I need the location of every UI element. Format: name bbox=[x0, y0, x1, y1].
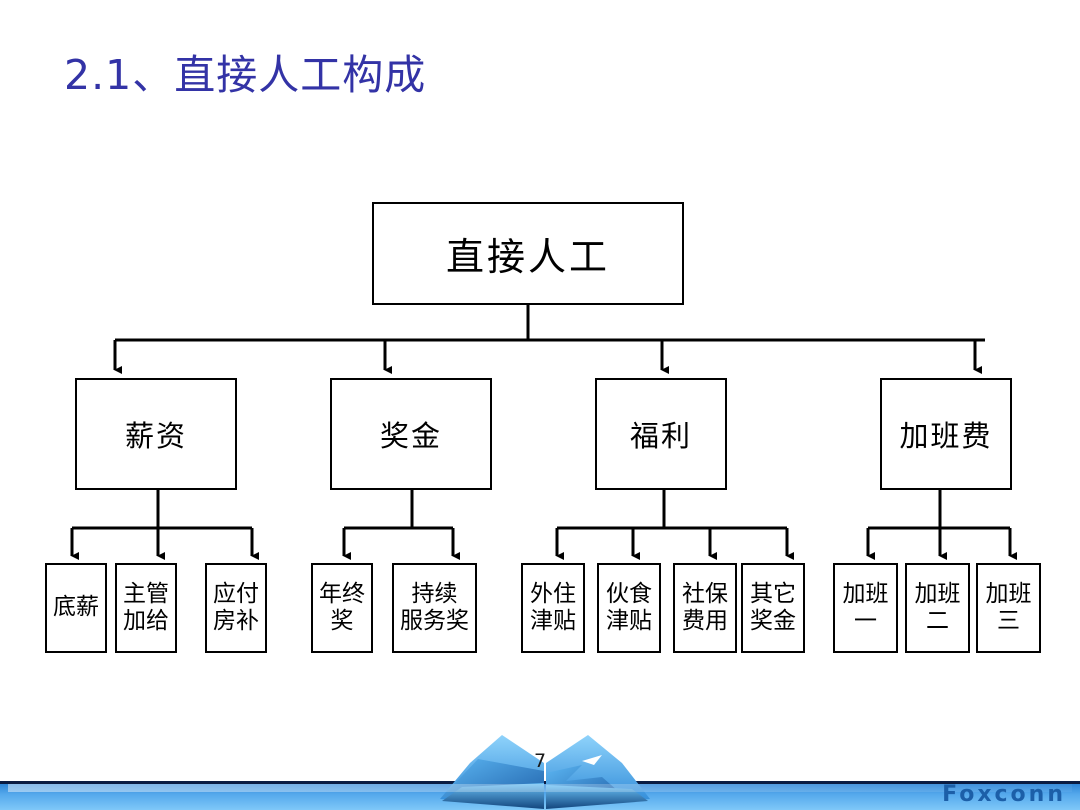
node-supervisor-allowance-label: 主管 加给 bbox=[123, 581, 169, 635]
connector-welfare-group bbox=[557, 490, 787, 556]
node-housing-subsidy-label: 应付 房补 bbox=[213, 581, 259, 635]
node-overtime-2[interactable]: 加班 二 bbox=[905, 563, 970, 653]
node-salary-label: 薪资 bbox=[125, 413, 187, 455]
node-overtime-3-label: 加班 三 bbox=[986, 581, 1032, 635]
page-title: 2.1、直接人工构成 bbox=[64, 52, 426, 99]
node-meal-allowance-label: 伙食 津贴 bbox=[606, 581, 652, 635]
node-housing-allowance[interactable]: 外住 津贴 bbox=[521, 563, 585, 653]
node-root[interactable]: 直接人工 bbox=[372, 202, 684, 305]
footer-bar-highlight bbox=[8, 784, 1072, 792]
node-salary[interactable]: 薪资 bbox=[75, 378, 237, 490]
node-other-bonus-label: 其它 奖金 bbox=[750, 581, 796, 635]
node-social-insurance[interactable]: 社保 费用 bbox=[673, 563, 737, 653]
node-other-bonus[interactable]: 其它 奖金 bbox=[741, 563, 805, 653]
node-welfare-label: 福利 bbox=[630, 413, 692, 455]
node-overtime-1-label: 加班 一 bbox=[843, 581, 889, 635]
slide-canvas: 2.1、直接人工构成 bbox=[0, 0, 1080, 810]
brand-logo: Foxconn bbox=[942, 782, 1066, 807]
node-root-label: 直接人工 bbox=[446, 226, 610, 281]
connector-root-to-bus bbox=[115, 305, 985, 340]
node-meal-allowance[interactable]: 伙食 津贴 bbox=[597, 563, 661, 653]
node-overtime-2-label: 加班 二 bbox=[915, 581, 961, 635]
page-number: 7 bbox=[0, 750, 1080, 772]
node-year-end-bonus-label: 年终 奖 bbox=[319, 581, 365, 635]
node-long-service-bonus[interactable]: 持续 服务奖 bbox=[392, 563, 477, 653]
node-social-insurance-label: 社保 费用 bbox=[682, 581, 728, 635]
node-overtime-label: 加班费 bbox=[899, 413, 992, 455]
node-base-salary[interactable]: 底薪 bbox=[45, 563, 107, 653]
node-year-end-bonus[interactable]: 年终 奖 bbox=[311, 563, 373, 653]
connector-overtime-group bbox=[868, 490, 1010, 556]
node-supervisor-allowance[interactable]: 主管 加给 bbox=[115, 563, 177, 653]
node-bonus[interactable]: 奖金 bbox=[330, 378, 492, 490]
node-bonus-label: 奖金 bbox=[380, 413, 442, 455]
node-welfare[interactable]: 福利 bbox=[595, 378, 727, 490]
node-housing-subsidy[interactable]: 应付 房补 bbox=[205, 563, 267, 653]
node-overtime[interactable]: 加班费 bbox=[880, 378, 1012, 490]
node-base-salary-label: 底薪 bbox=[53, 594, 99, 621]
node-overtime-1[interactable]: 加班 一 bbox=[833, 563, 898, 653]
connector-bus-to-level2 bbox=[115, 340, 975, 370]
node-housing-allowance-label: 外住 津贴 bbox=[530, 581, 576, 635]
connector-bonus-group bbox=[344, 490, 453, 556]
node-long-service-bonus-label: 持续 服务奖 bbox=[400, 581, 469, 635]
connector-salary-group bbox=[72, 490, 252, 556]
node-overtime-3[interactable]: 加班 三 bbox=[976, 563, 1041, 653]
